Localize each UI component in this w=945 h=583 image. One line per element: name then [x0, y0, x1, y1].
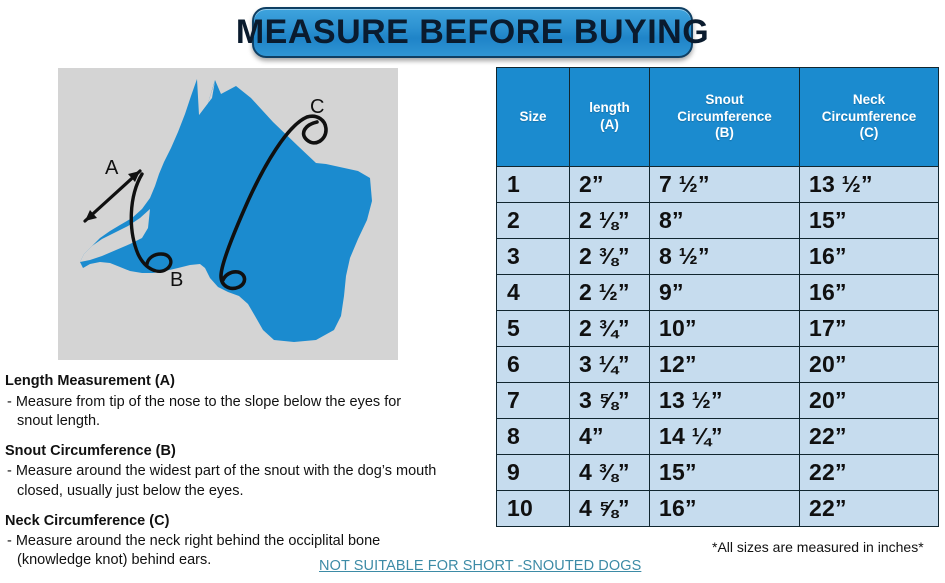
- instruction-length-line1: - Measure from tip of the nose to the sl…: [7, 394, 401, 410]
- neck-circumference-cell: 15”: [800, 203, 939, 239]
- size-chart-body: 12”7 ½”13 ½”22 ⅛”8”15”32 ⅜”8 ½”16”42 ½”9…: [497, 167, 939, 527]
- neck-circumference-cell: 22”: [800, 419, 939, 455]
- length-cell: 2”: [570, 167, 650, 203]
- table-row: 32 ⅜”8 ½”16”: [497, 239, 939, 275]
- column-header-snout-line3: (B): [715, 125, 734, 140]
- label-c: C: [310, 96, 324, 118]
- size-cell: 2: [497, 203, 570, 239]
- neck-circumference-cell: 20”: [800, 347, 939, 383]
- column-header-snout-line2: Circumference: [677, 109, 772, 124]
- units-footnote: *All sizes are measured in inches*: [712, 539, 924, 555]
- column-header-neck-line2: Circumference: [822, 109, 917, 124]
- size-cell: 1: [497, 167, 570, 203]
- table-row: 104 ⅝”16”22”: [497, 491, 939, 527]
- snout-circumference-cell: 8”: [650, 203, 800, 239]
- size-chart-table: Size length (A) Snout Circumference (B) …: [496, 67, 939, 527]
- instruction-length-line2: snout length.: [7, 412, 485, 431]
- length-cell: 2 ¾”: [570, 311, 650, 347]
- instruction-block-length: Length Measurement (A) - Measure from ti…: [5, 372, 485, 431]
- table-row: 84”14 ¼”22”: [497, 419, 939, 455]
- column-header-length: length (A): [570, 68, 650, 167]
- snout-circumference-cell: 13 ½”: [650, 383, 800, 419]
- neck-circumference-cell: 22”: [800, 491, 939, 527]
- snout-circumference-cell: 16”: [650, 491, 800, 527]
- snout-circumference-cell: 9”: [650, 275, 800, 311]
- length-cell: 4 ⅜”: [570, 455, 650, 491]
- measurement-instructions: Length Measurement (A) - Measure from ti…: [5, 372, 485, 581]
- size-cell: 8: [497, 419, 570, 455]
- snout-circumference-cell: 15”: [650, 455, 800, 491]
- column-header-snout-circumference: Snout Circumference (B): [650, 68, 800, 167]
- table-row: 12”7 ½”13 ½”: [497, 167, 939, 203]
- size-cell: 4: [497, 275, 570, 311]
- instruction-snout-line2: closed, usually just below the eyes.: [7, 482, 485, 501]
- size-cell: 5: [497, 311, 570, 347]
- size-cell: 10: [497, 491, 570, 527]
- column-header-snout-line1: Snout: [705, 92, 743, 107]
- length-cell: 4 ⅝”: [570, 491, 650, 527]
- length-cell: 3 ⅝”: [570, 383, 650, 419]
- table-row: 42 ½”9”16”: [497, 275, 939, 311]
- neck-circumference-cell: 16”: [800, 239, 939, 275]
- page-title-banner: MEASURE BEFORE BUYING: [252, 7, 693, 58]
- snout-circumference-cell: 7 ½”: [650, 167, 800, 203]
- table-row: 52 ¾”10”17”: [497, 311, 939, 347]
- table-row: 22 ⅛”8”15”: [497, 203, 939, 239]
- column-header-neck-circumference: Neck Circumference (C): [800, 68, 939, 167]
- size-cell: 9: [497, 455, 570, 491]
- length-cell: 2 ⅛”: [570, 203, 650, 239]
- page-title: MEASURE BEFORE BUYING: [236, 13, 709, 52]
- not-suitable-note: NOT SUITABLE FOR SHORT -SNOUTED DOGS: [319, 558, 641, 574]
- instruction-block-snout: Snout Circumference (B) - Measure around…: [5, 442, 485, 501]
- neck-circumference-cell: 16”: [800, 275, 939, 311]
- column-header-length-line1: length: [589, 100, 630, 115]
- label-b: B: [170, 269, 183, 291]
- length-cell: 2 ⅜”: [570, 239, 650, 275]
- size-cell: 3: [497, 239, 570, 275]
- instruction-title-snout: Snout Circumference (B): [5, 442, 485, 462]
- column-header-length-line2: (A): [600, 117, 619, 132]
- instruction-snout-line1: - Measure around the widest part of the …: [7, 463, 436, 479]
- dog-head-diagram-svg: A B C: [58, 68, 398, 360]
- column-header-neck-line1: Neck: [853, 92, 885, 107]
- neck-circumference-cell: 13 ½”: [800, 167, 939, 203]
- neck-circumference-cell: 20”: [800, 383, 939, 419]
- neck-circumference-cell: 17”: [800, 311, 939, 347]
- instruction-body-length: - Measure from tip of the nose to the sl…: [5, 393, 485, 431]
- length-cell: 2 ½”: [570, 275, 650, 311]
- instruction-title-length: Length Measurement (A): [5, 372, 485, 392]
- instruction-neck-line1: - Measure around the neck right behind t…: [7, 533, 380, 549]
- neck-circumference-cell: 22”: [800, 455, 939, 491]
- snout-circumference-cell: 14 ¼”: [650, 419, 800, 455]
- dog-measurement-illustration: A B C: [58, 68, 398, 360]
- snout-circumference-cell: 12”: [650, 347, 800, 383]
- table-header-row: Size length (A) Snout Circumference (B) …: [497, 68, 939, 167]
- column-header-neck-line3: (C): [860, 125, 879, 140]
- size-cell: 7: [497, 383, 570, 419]
- size-chart-header: Size length (A) Snout Circumference (B) …: [497, 68, 939, 167]
- table-row: 73 ⅝”13 ½”20”: [497, 383, 939, 419]
- label-a: A: [105, 157, 119, 179]
- table-row: 63 ¼”12”20”: [497, 347, 939, 383]
- column-header-size-label: Size: [519, 109, 546, 124]
- instruction-body-snout: - Measure around the widest part of the …: [5, 462, 485, 500]
- length-cell: 3 ¼”: [570, 347, 650, 383]
- instruction-title-neck: Neck Circumference (C): [5, 512, 485, 532]
- length-cell: 4”: [570, 419, 650, 455]
- column-header-size: Size: [497, 68, 570, 167]
- snout-circumference-cell: 10”: [650, 311, 800, 347]
- snout-circumference-cell: 8 ½”: [650, 239, 800, 275]
- dog-head-silhouette: [80, 79, 372, 342]
- table-row: 94 ⅜”15”22”: [497, 455, 939, 491]
- size-cell: 6: [497, 347, 570, 383]
